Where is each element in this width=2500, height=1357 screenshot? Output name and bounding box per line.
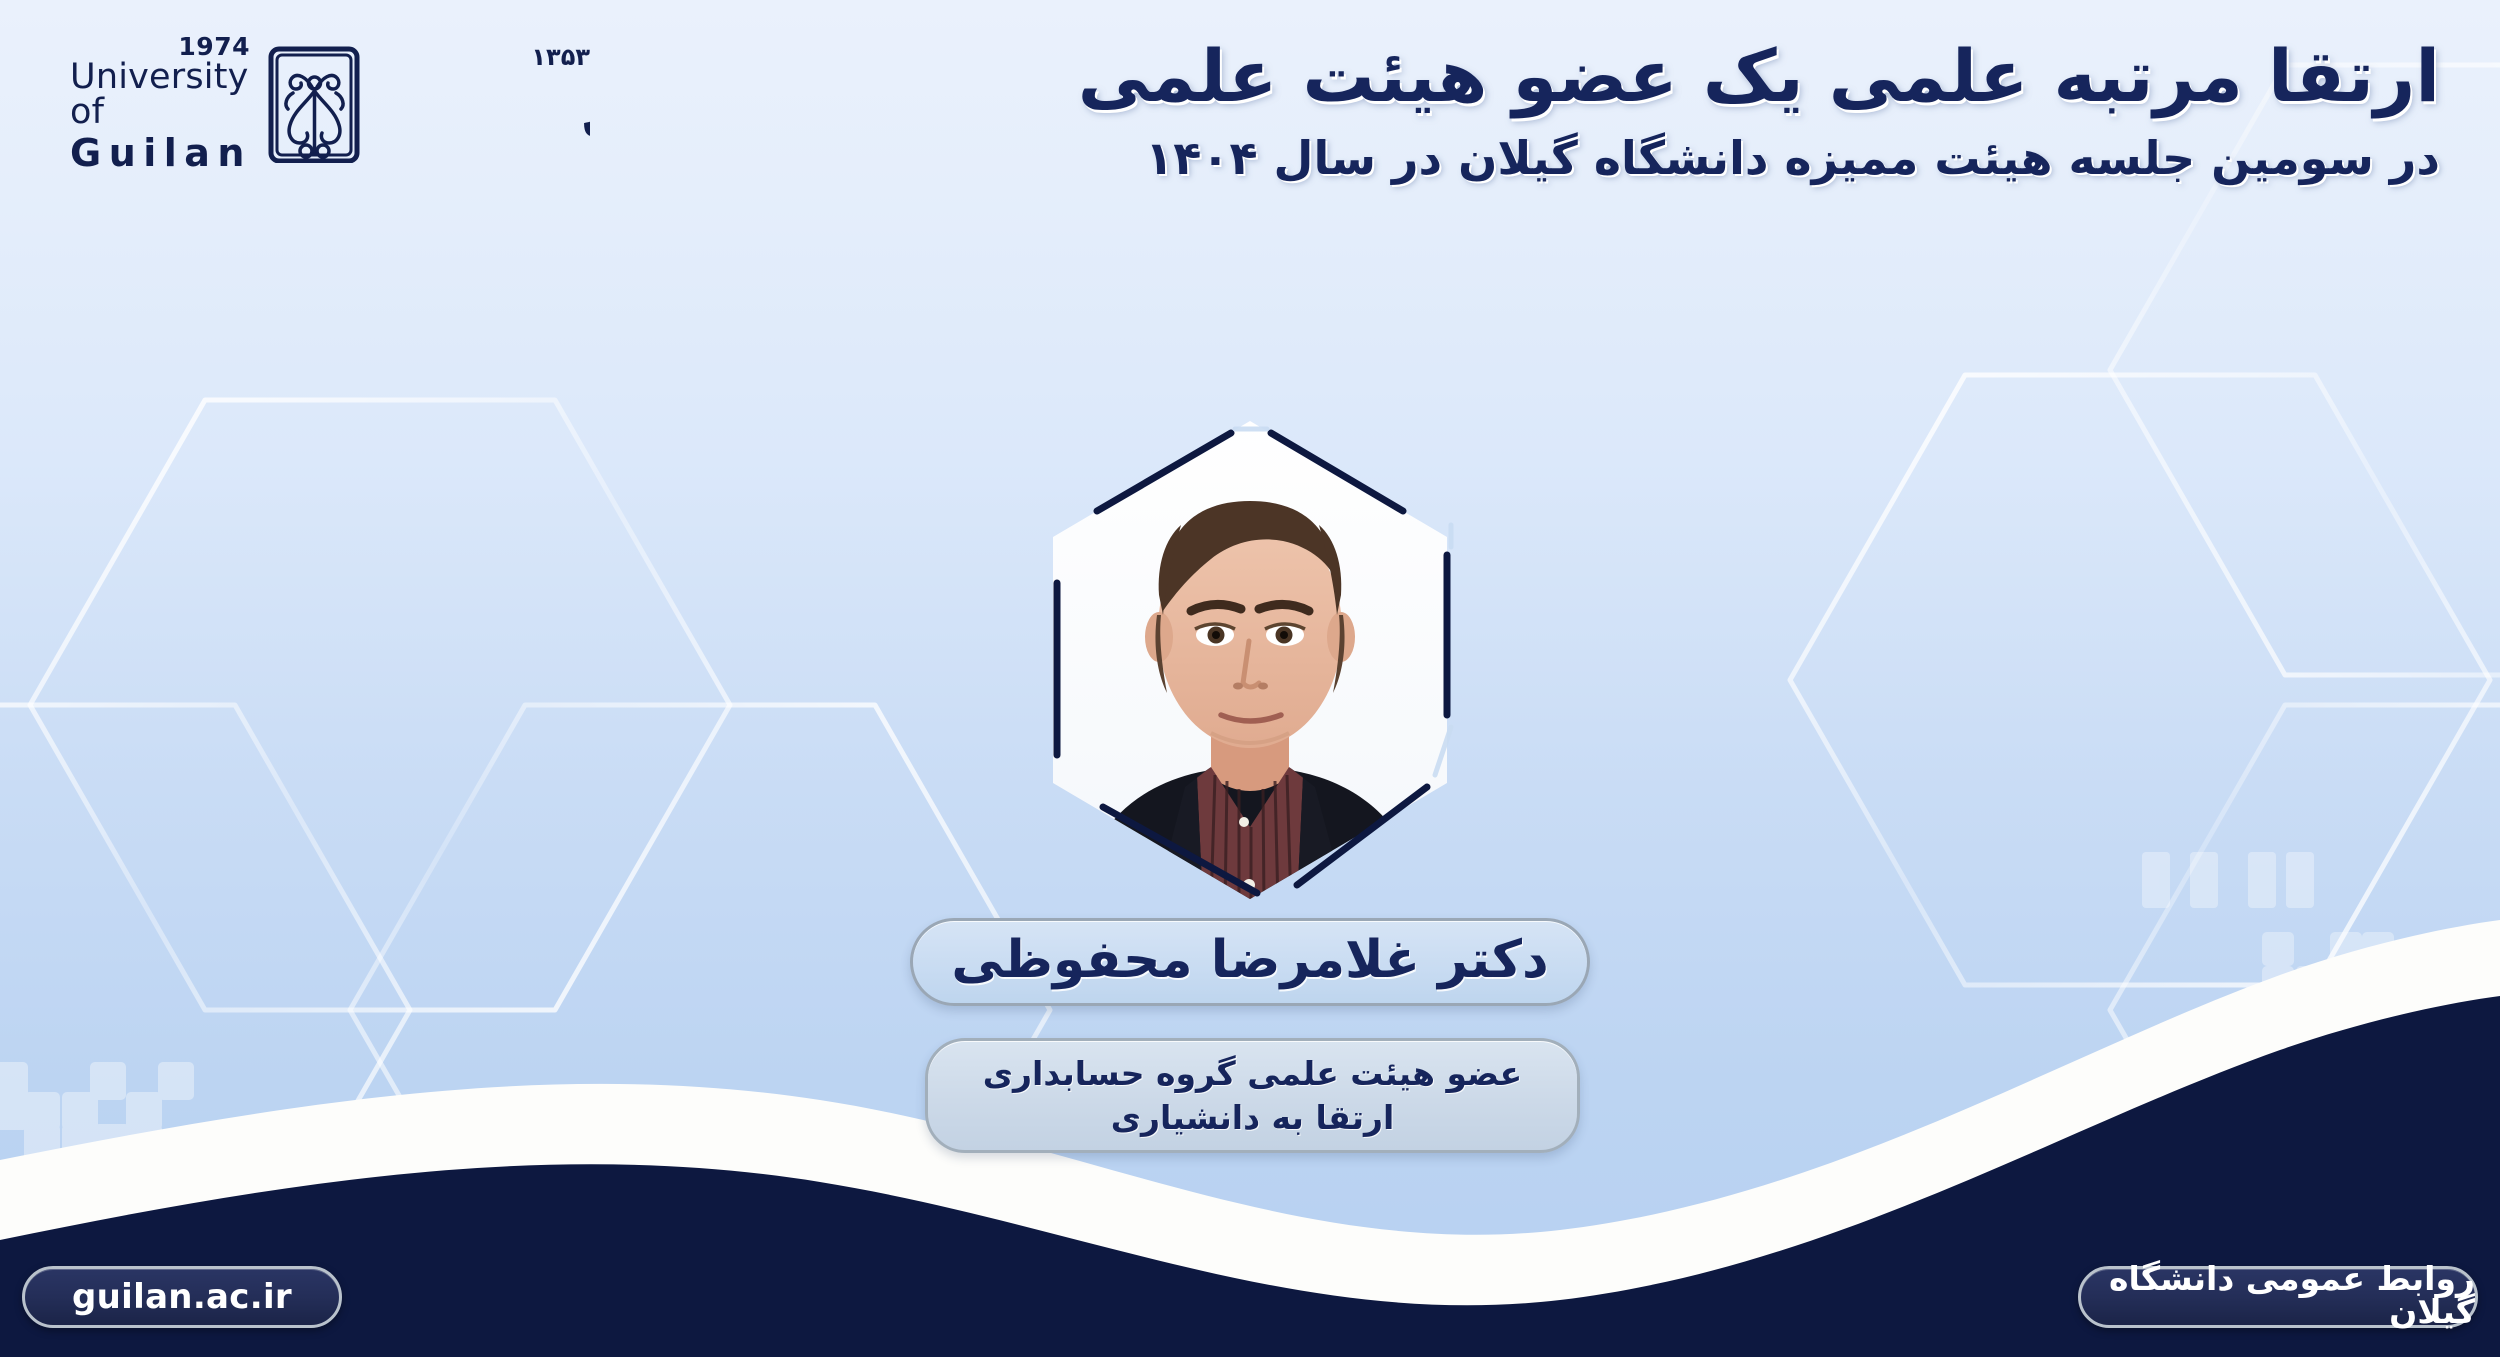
page-subtitle: در سومین جلسه هیئت ممیزه دانشگاه گیلان د…	[1040, 131, 2440, 186]
logo-guilan: Guilan	[70, 134, 252, 172]
website-pill[interactable]: guilan.ac.ir	[22, 1266, 342, 1328]
logo-name-fa-label: دانشگاه گیلان	[575, 67, 590, 143]
logo-university-name-fa-calligraphy: دانشگاه گیلان	[375, 67, 590, 163]
page-title: ارتقا مرتبه علمی یک عضو هیئت علمی	[1040, 34, 2440, 119]
logo-english-text: 1974 University of Guilan	[70, 34, 262, 172]
logo-founding-year-en: 1974	[178, 34, 250, 59]
person-role-line2: ارتقا به دانشیاری	[1111, 1097, 1395, 1138]
portrait-card	[1035, 415, 1465, 905]
university-logo: 1974 University of Guilan ۱۳۵۳ دانشگاه گ…	[70, 28, 540, 178]
logo-persian-text: ۱۳۵۳ دانشگاه گیلان	[367, 43, 590, 163]
public-relations-label: روابط عمومی دانشگاه گیلان	[2081, 1262, 2475, 1332]
hexagon-frame-icon	[1035, 415, 1465, 905]
portrait-photo	[1035, 415, 1465, 905]
square-speckle-right	[2142, 852, 2492, 1102]
guilan-university-crest-icon	[262, 43, 367, 163]
public-relations-pill: روابط عمومی دانشگاه گیلان	[2078, 1266, 2478, 1328]
square-speckle-left	[0, 1062, 194, 1226]
title-group: ارتقا مرتبه علمی یک عضو هیئت علمی در سوم…	[1040, 34, 2440, 186]
person-name-badge: دکتر غلامرضا محفوظی	[910, 918, 1590, 1006]
poster-canvas: 1974 University of Guilan ۱۳۵۳ دانشگاه گ…	[0, 0, 2500, 1357]
person-role-badge: عضو هیئت علمی گروه حسابداری ارتقا به دان…	[925, 1038, 1580, 1153]
website-url: guilan.ac.ir	[72, 1277, 292, 1317]
person-name: دکتر غلامرضا محفوظی	[951, 934, 1548, 990]
logo-university-of: University of	[70, 60, 252, 130]
person-role-line1: عضو هیئت علمی گروه حسابداری	[983, 1053, 1522, 1094]
